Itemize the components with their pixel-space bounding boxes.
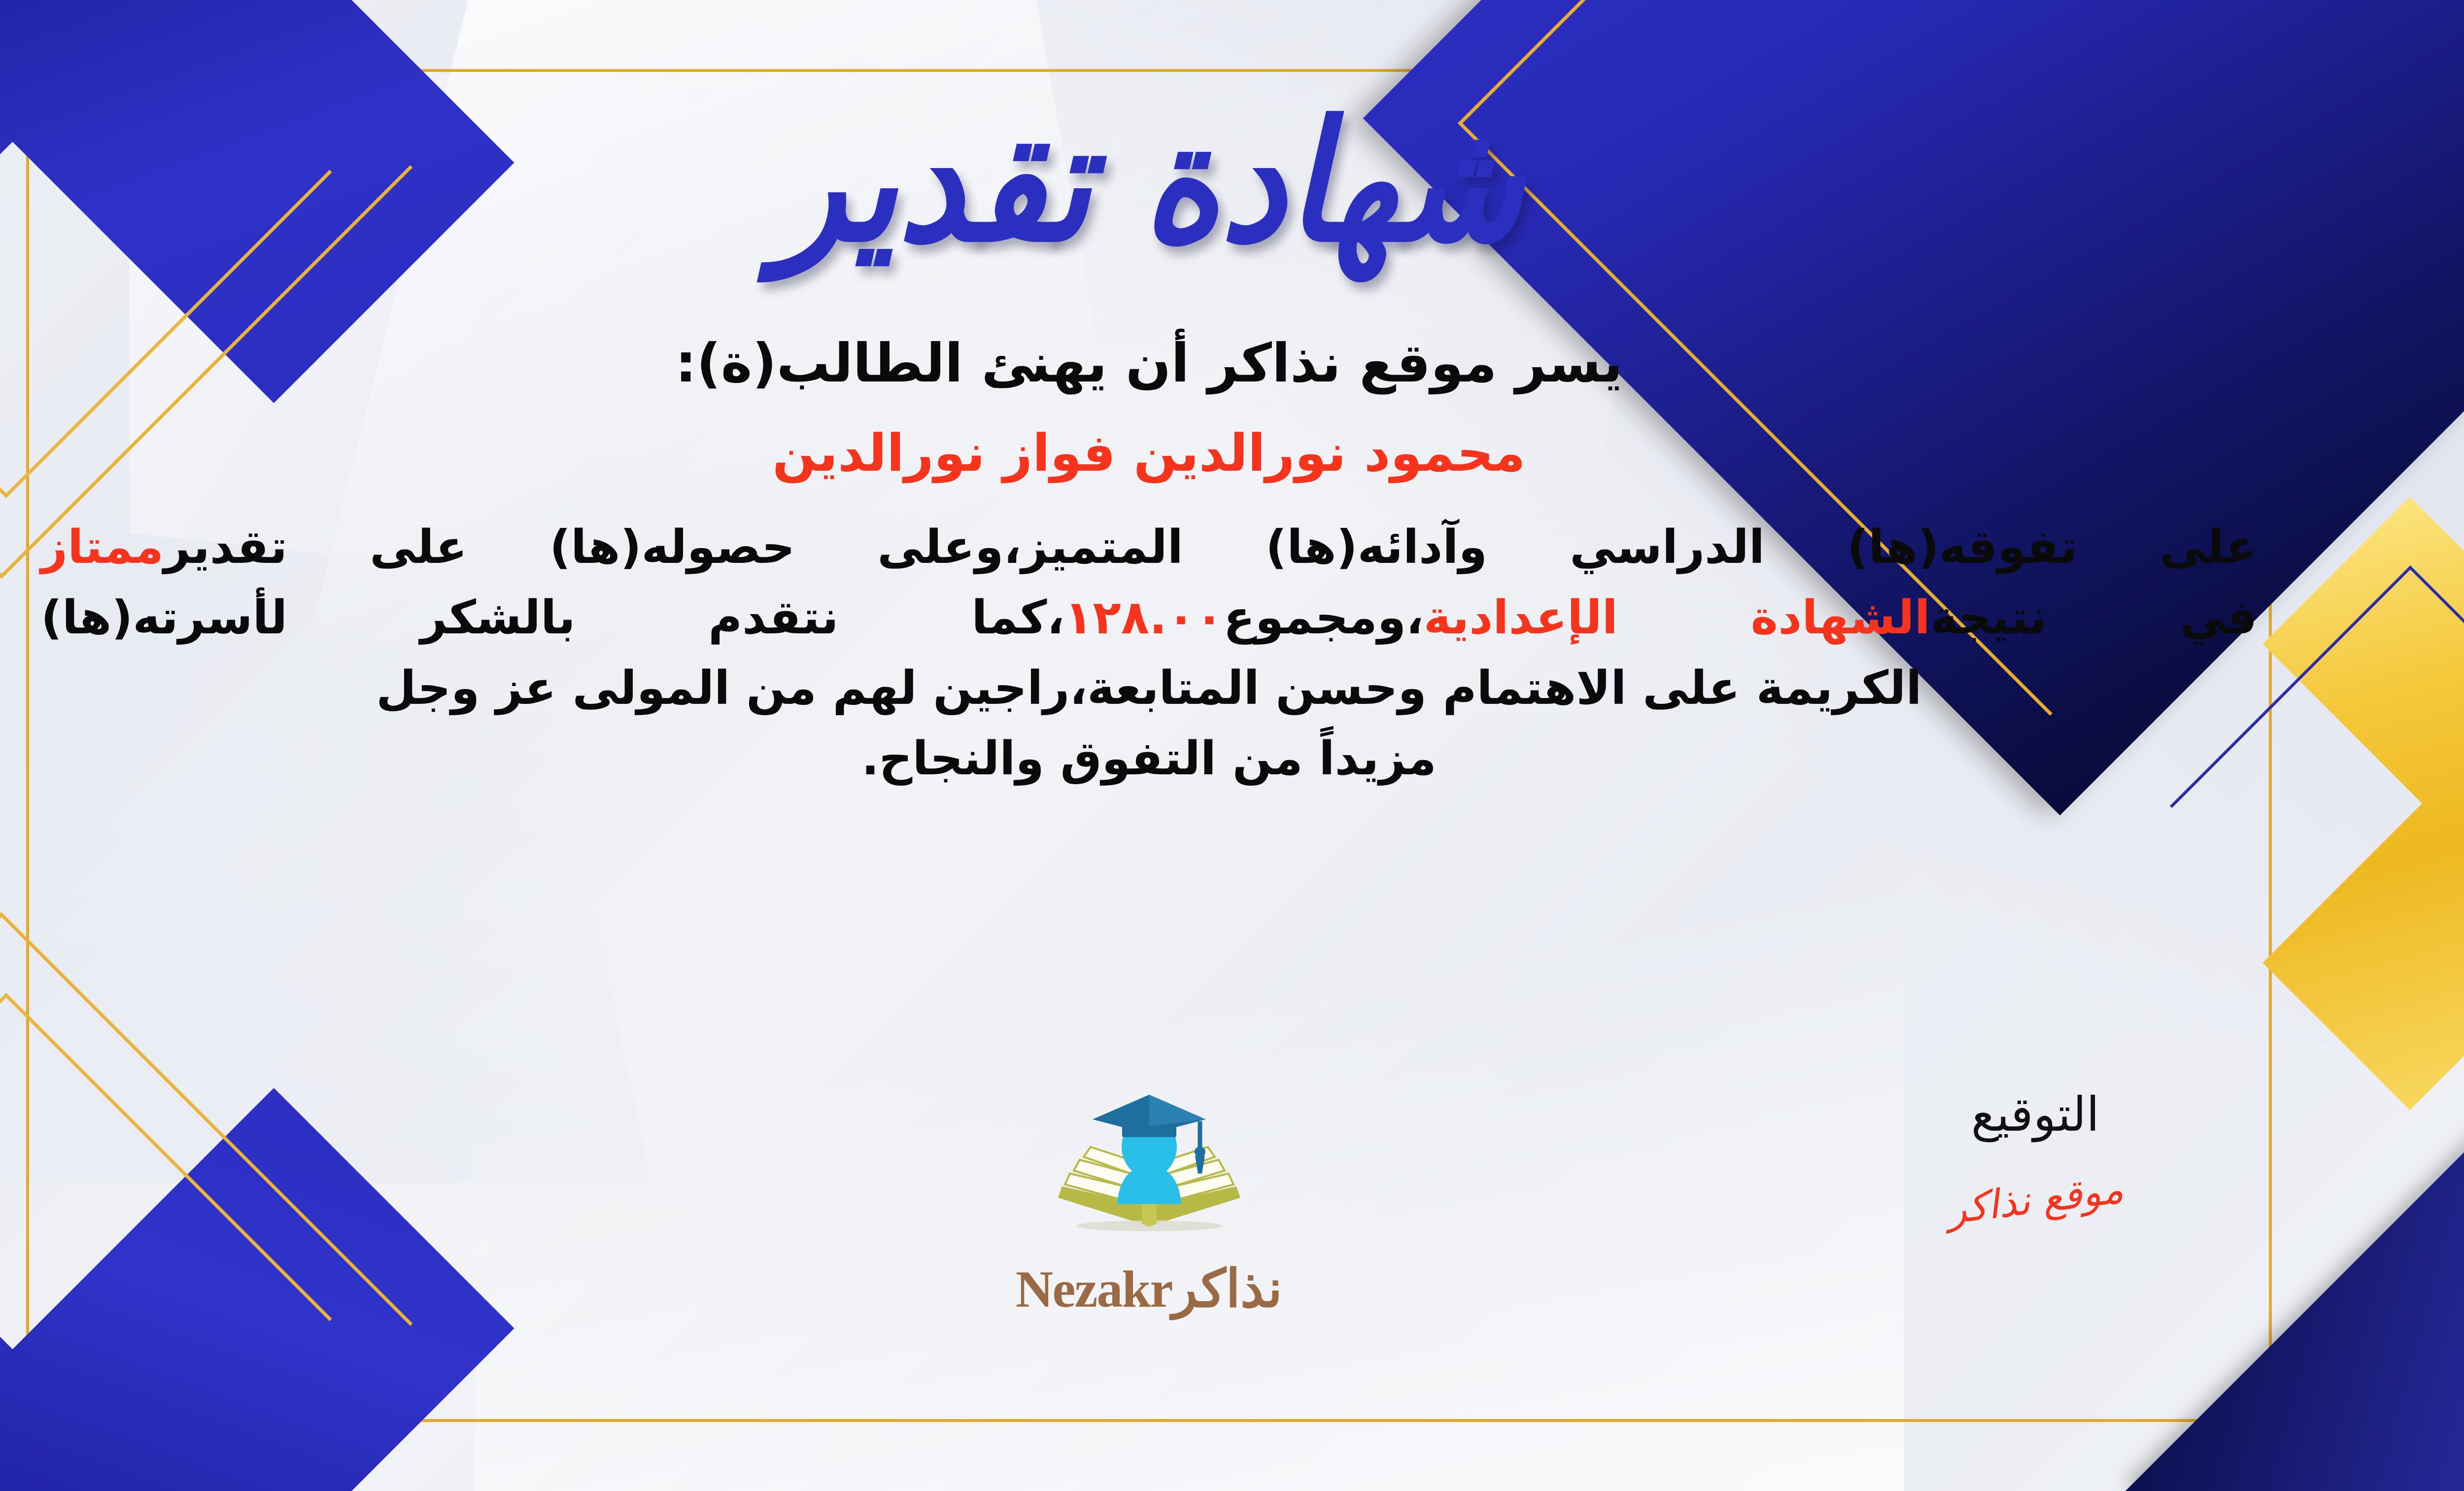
signature-handwritten-mark: موقع نذاكر [1945,1166,2126,1233]
body-line-1: على تفوقه(ها) الدراسي وآدائه(ها) المتميز… [41,513,2257,583]
exam-name: الشهادة الإعدادية [1424,591,1930,645]
total-score: ١٢٨.٠٠ [1064,591,1224,645]
certificate-body: على تفوقه(ها) الدراسي وآدائه(ها) المتميز… [41,513,2257,795]
body-line-1-text: على تفوقه(ها) الدراسي وآدائه(ها) المتميز… [164,520,2257,574]
grade-value: ممتاز [41,520,164,574]
certificate-footer: التوقيع موقع نذاكر [41,1087,2257,1402]
student-name: محمود نورالدين فواز نورالدين [772,423,1525,483]
certificate-content: شهادة تقدير يسر موقع نذاكر أن يهنئ الطال… [41,79,2257,1412]
body-line-2-suffix: ،كما نتقدم بالشكر لأسرته(ها) [41,591,1064,645]
body-line-3: الكريمة على الاهتمام وحسن المتابعة،راجين… [41,654,2257,724]
graduate-book-logo-icon [1043,1092,1255,1254]
certificate-title: شهادة تقدير [775,78,1523,285]
site-logo: نذاكرNezakr [962,1092,1336,1319]
signature-label: التوقيع [1814,1087,2257,1142]
body-line-2: في نتيجةالشهادة الإعدادية،ومجموع١٢٨.٠٠،ك… [41,583,2257,654]
body-line-4: مزيداً من التفوق والنجاح. [41,724,2257,795]
logo-wordmark: نذاكرNezakr [962,1257,1336,1319]
greeting-line: يسر موقع نذاكر أن يهنئ الطالب(ة): [675,333,1623,394]
certificate-canvas: شهادة تقدير يسر موقع نذاكر أن يهنئ الطال… [0,0,2464,1491]
logo-arabic-text: نذاكر [1172,1257,1283,1319]
body-line-2-prefix: في نتيجة [1930,591,2257,645]
body-line-2-mid: ،ومجموع [1224,591,1424,645]
logo-latin-text: Nezakr [1016,1259,1172,1319]
signature-block: التوقيع موقع نذاكر [1814,1087,2257,1222]
